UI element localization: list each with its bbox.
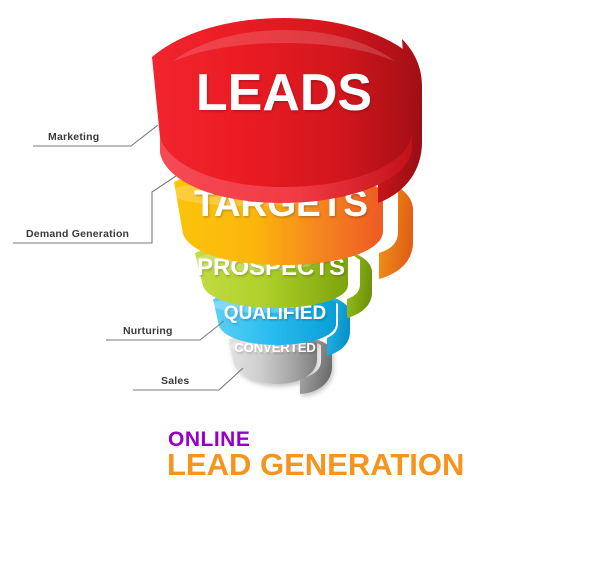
lead-generation-funnel-graphic: CONVERTED QUALIFIED PROSPECTS TARGETS xyxy=(0,0,600,561)
callout-label-marketing: Marketing xyxy=(48,131,99,143)
callout-label-demand-generation: Demand Generation xyxy=(26,228,129,240)
callout-label-sales: Sales xyxy=(161,375,189,387)
title-line-lead-generation: LEAD GENERATION xyxy=(167,447,464,482)
infographic-canvas: CONVERTED QUALIFIED PROSPECTS TARGETS xyxy=(0,0,600,561)
callout-label-nurturing: Nurturing xyxy=(123,325,173,337)
prospects-side-face xyxy=(347,251,372,318)
leads-layer-text: LEADS xyxy=(196,64,372,122)
